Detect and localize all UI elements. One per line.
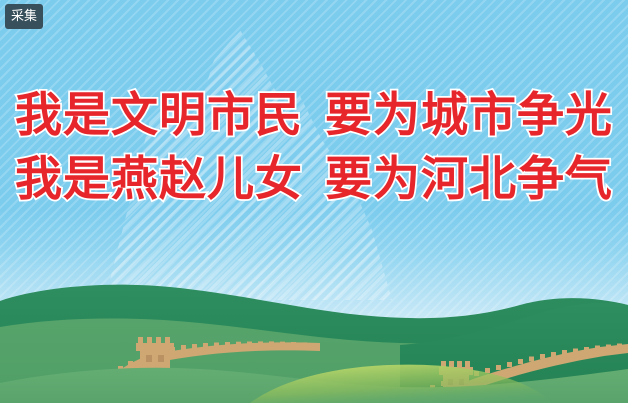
- headline-line-1-right: 要为城市争光: [325, 88, 613, 143]
- headline-line-1-left: 我是文明市民: [15, 88, 303, 143]
- headline-line-2-right: 要为河北争气: [325, 152, 613, 207]
- headline-line-2-left: 我是燕赵儿女: [15, 152, 303, 207]
- landscape-illustration: [0, 243, 628, 403]
- poster-canvas: 我是文明市民要为城市争光 我是燕赵儿女要为河北争气 采集: [0, 0, 628, 403]
- headline-line-1: 我是文明市民要为城市争光: [0, 92, 628, 140]
- headline-block: 我是文明市民要为城市争光 我是燕赵儿女要为河北争气: [0, 92, 628, 220]
- headline-line-2: 我是燕赵儿女要为河北争气: [0, 156, 628, 204]
- capture-button[interactable]: 采集: [5, 4, 43, 29]
